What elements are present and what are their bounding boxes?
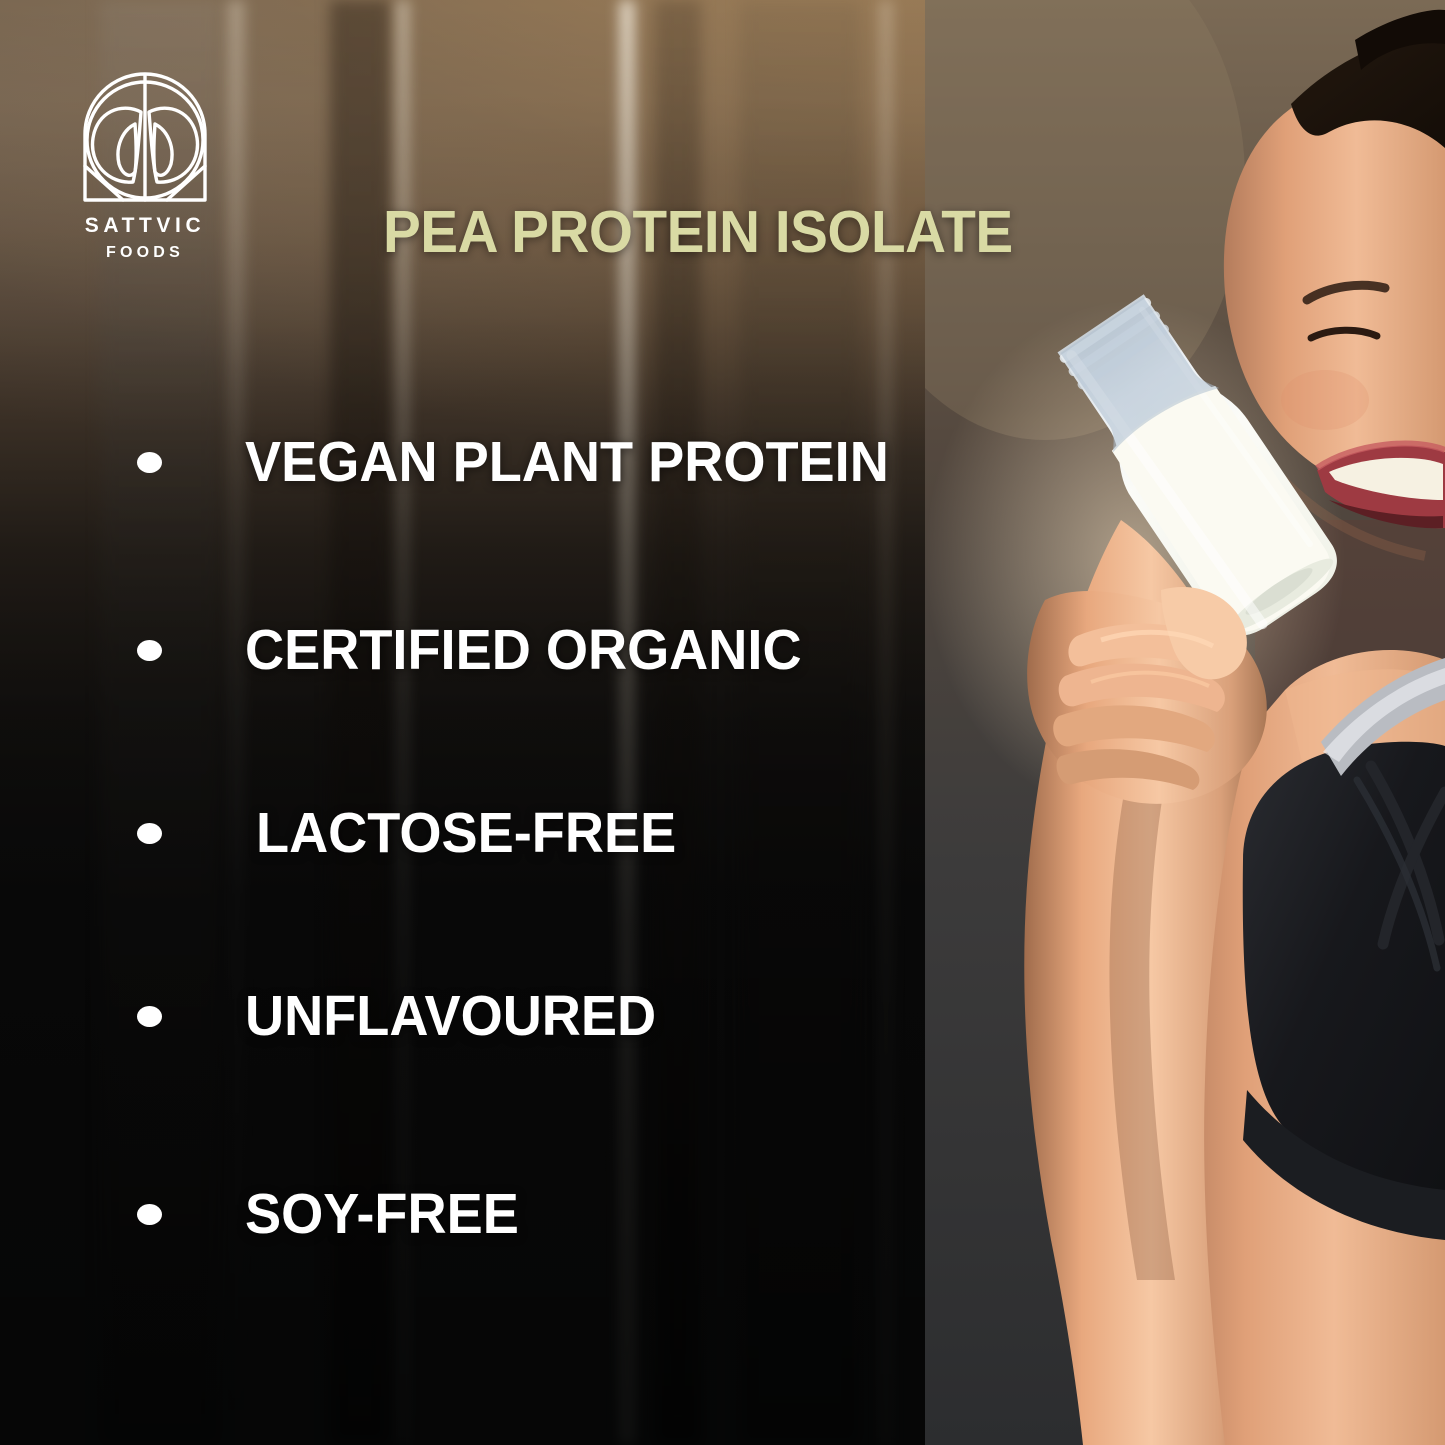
list-item: VEGAN PLANT PROTEIN xyxy=(0,434,923,491)
brand-name: SATTVIC xyxy=(70,215,220,236)
feature-label: LACTOSE-FREE xyxy=(256,805,676,862)
bullet-icon xyxy=(137,823,162,844)
bullet-icon xyxy=(137,1006,162,1027)
bullet-icon xyxy=(137,1204,162,1225)
list-item: SOY-FREE xyxy=(0,1186,533,1243)
product-feature-poster: SATTVIC FOODS PEA PROTEIN ISOLATE VEGAN … xyxy=(0,0,1445,1445)
list-item: UNFLAVOURED xyxy=(0,988,678,1045)
brand-logo: SATTVIC FOODS xyxy=(70,72,220,261)
page-title: PEA PROTEIN ISOLATE xyxy=(383,203,1013,262)
brand-subtitle: FOODS xyxy=(70,245,220,261)
list-item: CERTIFIED ORGANIC xyxy=(0,622,831,679)
feature-label: SOY-FREE xyxy=(245,1186,519,1243)
list-item: LACTOSE-FREE xyxy=(0,805,698,862)
sattvic-arch-leaf-logo-icon xyxy=(77,72,213,202)
bullet-icon xyxy=(137,452,162,473)
feature-label: CERTIFIED ORGANIC xyxy=(245,622,802,679)
feature-label: VEGAN PLANT PROTEIN xyxy=(245,434,889,491)
feature-label: UNFLAVOURED xyxy=(245,988,656,1045)
bullet-icon xyxy=(137,640,162,661)
